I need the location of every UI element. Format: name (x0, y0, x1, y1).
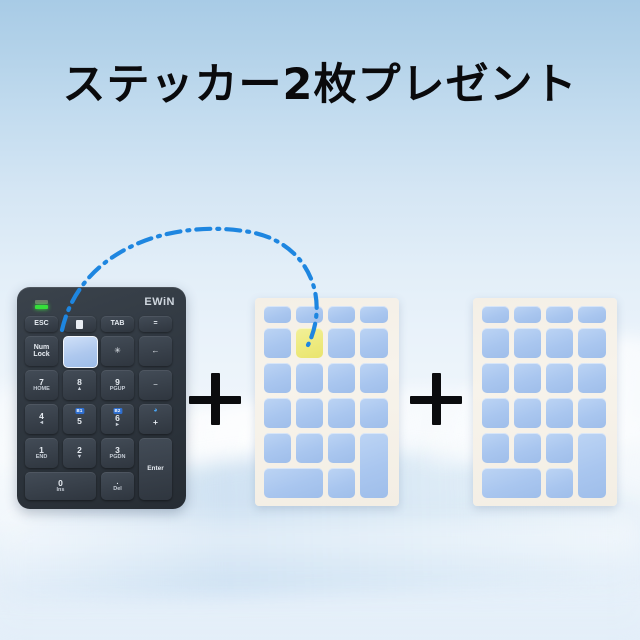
sticker-r0c0[interactable] (264, 306, 291, 323)
sticker-r2c0[interactable] (264, 363, 291, 393)
key-numlock[interactable]: Num Lock (25, 336, 58, 366)
sticker2-r2c2[interactable] (546, 363, 573, 393)
sticker-zero[interactable] (264, 468, 323, 498)
key-enter[interactable]: Enter (139, 438, 172, 500)
sticker2-r2c0[interactable] (482, 363, 509, 393)
sticker2-r2c1[interactable] (514, 363, 541, 393)
key-plus-wireless[interactable]: ◕ + (139, 404, 172, 434)
sticker2-r0c3[interactable] (578, 306, 606, 323)
wifi-icon: ◕ (153, 407, 157, 414)
sticker2-r3c2[interactable] (546, 398, 573, 428)
sticker-enter[interactable] (360, 433, 388, 498)
sticker2-r0c0[interactable] (482, 306, 509, 323)
key-7-home[interactable]: 7 HOME (25, 370, 58, 400)
sticker-r1c0[interactable] (264, 328, 291, 358)
key-8-up[interactable]: 8 ▲ (63, 370, 96, 400)
sticker2-r1c1[interactable] (514, 328, 541, 358)
keypad-keys: ESC TAB = Num Lock ✳ ← 7 HOME 8 ▲ 9 (25, 316, 178, 500)
sticker-r1c1-highlighted[interactable] (296, 328, 323, 358)
plus-sign-2 (410, 373, 462, 425)
key-backspace[interactable]: ← (139, 336, 172, 366)
sticker-r1c3[interactable] (360, 328, 388, 358)
sticker2-r2c3[interactable] (578, 363, 606, 393)
numeric-keypad: EWiN ESC TAB = Num Lock ✳ ← 7 HOME 8 ▲ (17, 287, 186, 509)
key-4-left[interactable]: 4 ◄ (25, 404, 58, 434)
sticker2-r1c0[interactable] (482, 328, 509, 358)
sticker-r0c3[interactable] (360, 306, 388, 323)
sticker2-r4c1[interactable] (514, 433, 541, 463)
bluetooth-badge-2: B2 (113, 408, 122, 415)
key-minus[interactable]: − (139, 370, 172, 400)
sticker-r0c1[interactable] (296, 306, 323, 323)
sticker-r4c1[interactable] (296, 433, 323, 463)
battery-led-icon (35, 300, 49, 309)
key-2-down[interactable]: 2 ▼ (63, 438, 96, 468)
sticker-grid-1 (264, 306, 390, 498)
sticker-square-icon (76, 320, 83, 329)
key-3-pgdn[interactable]: 3 PGDN (101, 438, 134, 468)
sticker2-r3c3[interactable] (578, 398, 606, 428)
sticker2-r4c2[interactable] (546, 433, 573, 463)
brand-logo: EWiN (144, 296, 175, 308)
sticker-r0c2[interactable] (328, 306, 355, 323)
key-1-end[interactable]: 1 END (25, 438, 58, 468)
sticker-sheet-1 (255, 298, 399, 506)
key-equals[interactable]: = (139, 316, 172, 332)
sticker2-r0c2[interactable] (546, 306, 573, 323)
sticker-r4c2[interactable] (328, 433, 355, 463)
background-wave-5 (0, 520, 640, 640)
sticker2-period[interactable] (546, 468, 573, 498)
sticker-r2c1[interactable] (296, 363, 323, 393)
key-5-bt1[interactable]: B1 5 (63, 404, 96, 434)
key-esc[interactable]: ESC (25, 316, 58, 332)
sticker-sheet-2 (473, 298, 617, 506)
bluetooth-badge-1: B1 (75, 408, 84, 415)
key-6-bt2[interactable]: B2 6 ► (101, 404, 134, 434)
sticker2-enter[interactable] (578, 433, 606, 498)
key-slash-stickered[interactable] (63, 336, 98, 368)
key-asterisk[interactable]: ✳ (101, 336, 134, 366)
sticker2-r3c1[interactable] (514, 398, 541, 428)
key-sticker-preview[interactable] (63, 316, 96, 332)
promo-image: ステッカー2枚プレゼント EWiN ESC TAB = Num Lock ✳ ←… (0, 0, 640, 640)
sticker-r3c3[interactable] (360, 398, 388, 428)
sticker-period[interactable] (328, 468, 355, 498)
sticker-r4c0[interactable] (264, 433, 291, 463)
sticker2-r3c0[interactable] (482, 398, 509, 428)
sticker2-r1c3[interactable] (578, 328, 606, 358)
key-0-ins[interactable]: 0 Ins (25, 472, 96, 500)
sticker-grid-2 (482, 306, 608, 498)
sticker-r2c3[interactable] (360, 363, 388, 393)
sticker-r3c1[interactable] (296, 398, 323, 428)
sticker-r3c0[interactable] (264, 398, 291, 428)
sticker-r3c2[interactable] (328, 398, 355, 428)
sticker-r2c2[interactable] (328, 363, 355, 393)
key-tab[interactable]: TAB (101, 316, 134, 332)
sticker2-zero[interactable] (482, 468, 541, 498)
key-9-pgup[interactable]: 9 PGUP (101, 370, 134, 400)
sticker2-r1c2[interactable] (546, 328, 573, 358)
promo-title: ステッカー2枚プレゼント (0, 64, 640, 107)
sticker2-r4c0[interactable] (482, 433, 509, 463)
sticker-r1c2[interactable] (328, 328, 355, 358)
sticker2-r0c1[interactable] (514, 306, 541, 323)
key-period-del[interactable]: . Del (101, 472, 134, 500)
plus-sign-1 (189, 373, 241, 425)
